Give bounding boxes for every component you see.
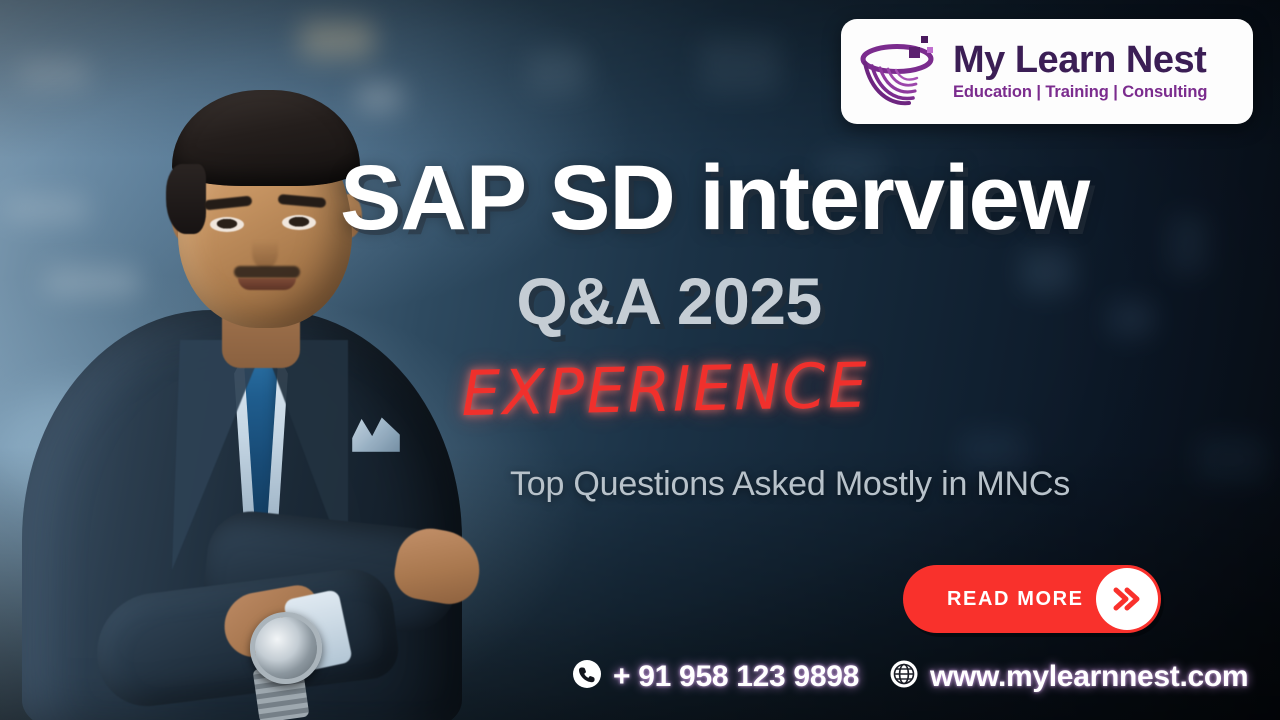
headline-line-2: Q&A 2025 <box>340 268 1260 334</box>
phone-number: + 91 958 123 9898 <box>613 660 859 694</box>
logo-tagline: Education | Training | Consulting <box>953 83 1207 102</box>
read-more-button[interactable]: READ MORE <box>903 565 1161 633</box>
headline-line-1: SAP SD interview <box>340 152 1260 244</box>
website-url: www.mylearnnest.com <box>930 660 1248 694</box>
promo-banner: My Learn Nest Education | Training | Con… <box>0 0 1280 720</box>
double-chevron-right-icon <box>1096 568 1158 630</box>
headline-tagline: Top Questions Asked Mostly in MNCs <box>340 465 1260 504</box>
phone-circle-icon <box>572 659 602 694</box>
headline-block: SAP SD interview Q&A 2025 EXPERIENCE Top… <box>340 152 1260 504</box>
headline-line-3-text: EXPERIENCE <box>461 349 870 431</box>
brand-logo[interactable]: My Learn Nest Education | Training | Con… <box>841 19 1253 124</box>
nest-logo-icon <box>855 33 951 111</box>
headline-line-3: EXPERIENCE <box>339 340 1260 432</box>
contact-bar: + 91 958 123 9898 www.mylearnnest.com <box>572 659 1248 694</box>
read-more-label: READ MORE <box>947 588 1084 611</box>
logo-title: My Learn Nest <box>953 41 1207 80</box>
phone-contact[interactable]: + 91 958 123 9898 <box>572 659 859 694</box>
globe-icon <box>889 659 919 694</box>
website-contact[interactable]: www.mylearnnest.com <box>889 659 1248 694</box>
